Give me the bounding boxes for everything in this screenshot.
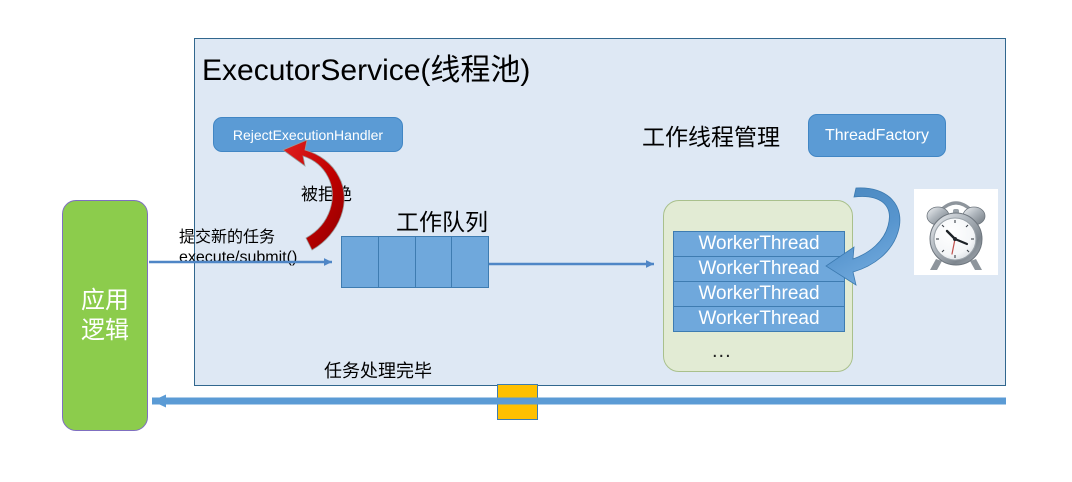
page-title: ExecutorService(线程池) [202, 45, 530, 89]
diagram-canvas: ExecutorService(线程池) RejectExecutionHand… [0, 0, 1072, 482]
queue-cell [378, 236, 416, 288]
executor-service-panel [194, 38, 1006, 386]
worker-thread-item[interactable]: WorkerThread [673, 231, 845, 257]
worker-thread-pool: WorkerThread WorkerThread WorkerThread W… [663, 200, 853, 372]
app-logic-box[interactable]: 应用逻辑 [62, 200, 148, 431]
alarm-clock-icon [914, 189, 998, 275]
thread-factory-box[interactable]: ThreadFactory [808, 114, 946, 157]
worker-thread-item[interactable]: WorkerThread [673, 306, 845, 332]
queue-cell [451, 236, 489, 288]
task-done-label: 任务处理完毕 [324, 357, 432, 383]
work-queue-label: 工作队列 [396, 203, 488, 237]
app-logic-label-line1: 应用 [81, 286, 129, 315]
worker-thread-item[interactable]: WorkerThread [673, 281, 845, 307]
queue-cell [341, 236, 379, 288]
submit-task-label-line1: 提交新的任务 [179, 228, 297, 248]
worker-management-label: 工作线程管理 [642, 118, 780, 152]
worker-thread-item[interactable]: WorkerThread [673, 256, 845, 282]
queue-cell [415, 236, 453, 288]
worker-thread-list: WorkerThread WorkerThread WorkerThread W… [673, 231, 845, 332]
worker-thread-more-indicator: ... [712, 346, 732, 356]
submit-task-label: 提交新的任务 execute/submit() [179, 228, 297, 267]
work-queue [341, 236, 489, 288]
rejected-label: 被拒绝 [301, 180, 352, 205]
submit-task-label-line2: execute/submit() [179, 248, 297, 268]
reject-execution-handler-box[interactable]: RejectExecutionHandler [213, 117, 403, 152]
return-path-marker [497, 384, 538, 420]
app-logic-label-line2: 逻辑 [81, 316, 129, 345]
